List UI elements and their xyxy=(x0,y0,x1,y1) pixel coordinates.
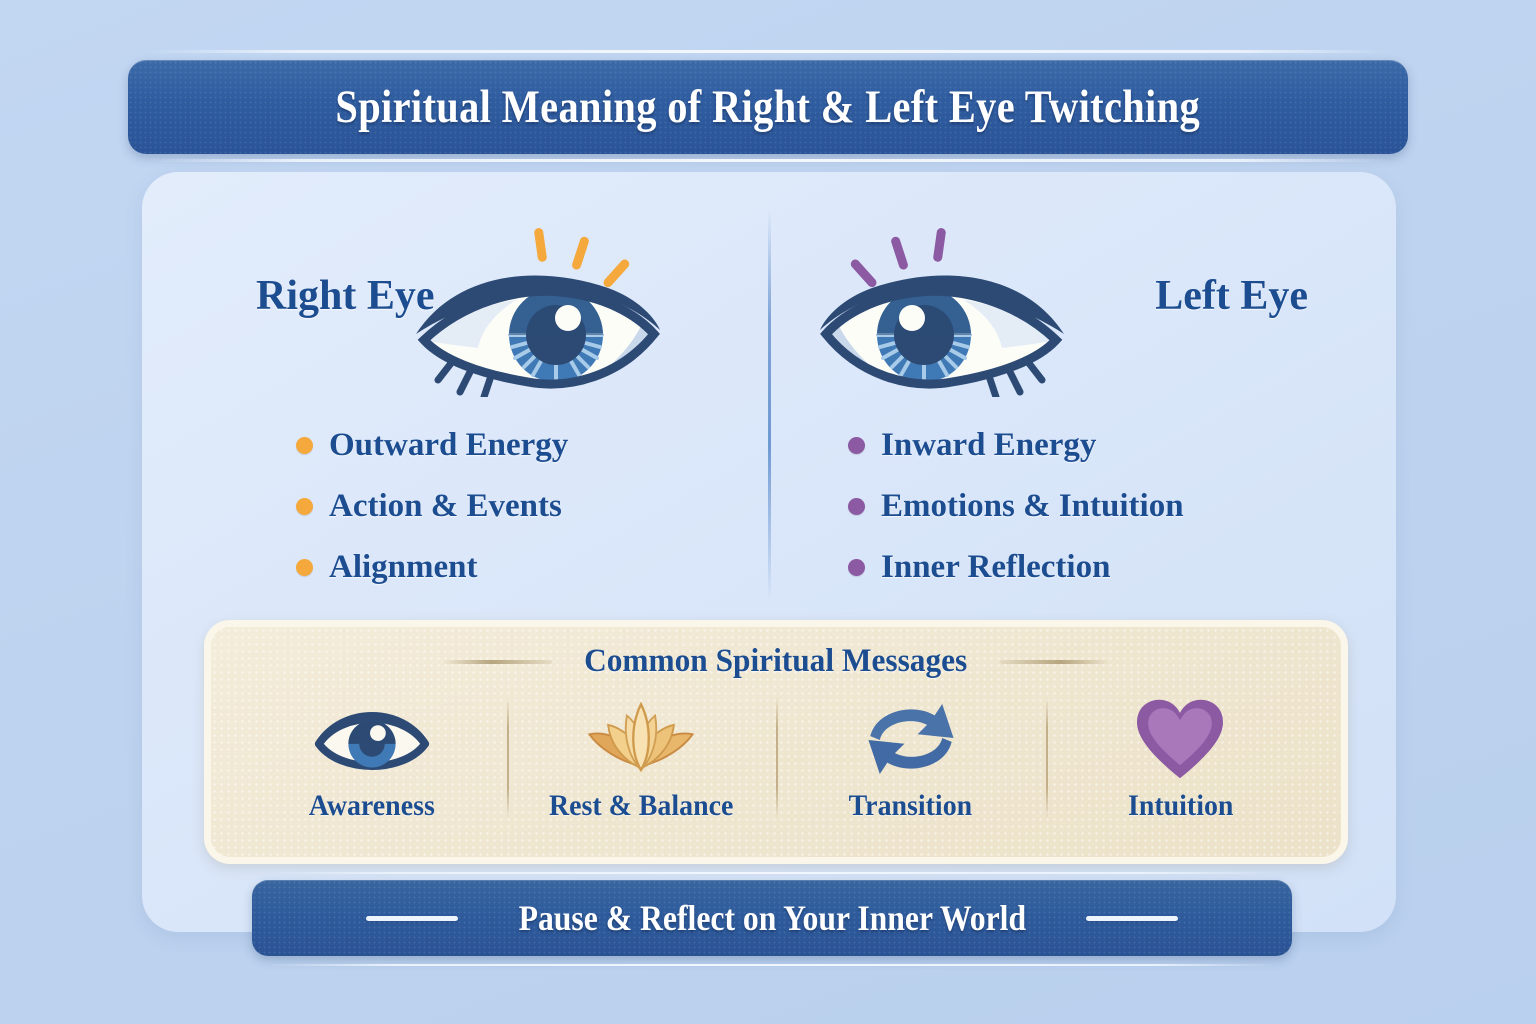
message-item-intuition: Intuition xyxy=(1046,693,1316,823)
list-item: Outward Energy xyxy=(168,427,768,464)
bullet-label: Outward Energy xyxy=(329,427,568,464)
title-banner-wrap: Spiritual Meaning of Right & Left Eye Tw… xyxy=(128,44,1408,164)
bullet-label: Emotions & Intuition xyxy=(881,488,1184,525)
list-item: Alignment xyxy=(168,549,768,586)
cycle-arrows-icon xyxy=(859,693,963,785)
list-item: Emotions & Intuition xyxy=(770,488,1370,525)
message-item-awareness: Awareness xyxy=(237,693,507,823)
infographic-canvas: Spiritual Meaning of Right & Left Eye Tw… xyxy=(0,0,1536,1024)
message-label: Awareness xyxy=(309,789,435,823)
list-item: Inward Energy xyxy=(770,427,1370,464)
bullet-dot-icon xyxy=(848,498,865,515)
footer-banner-wrap: Pause & Reflect on Your Inner World xyxy=(252,866,1292,970)
bullet-dot-icon xyxy=(848,559,865,576)
bullet-label: Inward Energy xyxy=(881,427,1096,464)
bullet-dot-icon xyxy=(296,437,313,454)
heart-icon xyxy=(1133,693,1227,785)
messages-title-row: Common Spiritual Messages xyxy=(211,643,1341,680)
right-eye-illustration-icon xyxy=(408,222,668,397)
bullet-label: Alignment xyxy=(329,549,478,586)
footer-text: Pause & Reflect on Your Inner World xyxy=(518,897,1025,939)
footer-dash-left-icon xyxy=(366,916,458,921)
message-label: Rest & Balance xyxy=(549,789,733,823)
eye-outline-icon xyxy=(313,693,431,785)
left-eye-illustration-icon xyxy=(812,222,1072,397)
bullet-dot-icon xyxy=(848,437,865,454)
messages-title: Common Spiritual Messages xyxy=(584,643,967,680)
main-card: Right Eye xyxy=(142,172,1396,932)
section-right-eye: Right Eye xyxy=(168,212,768,632)
message-item-transition: Transition xyxy=(776,693,1046,823)
lotus-icon xyxy=(580,693,702,785)
message-label: Intuition xyxy=(1128,789,1233,823)
title-banner: Spiritual Meaning of Right & Left Eye Tw… xyxy=(128,60,1408,154)
left-eye-label: Left Eye xyxy=(1155,272,1308,320)
message-label: Transition xyxy=(849,789,973,823)
list-item: Inner Reflection xyxy=(770,549,1370,586)
bullet-dot-icon xyxy=(296,559,313,576)
right-eye-bullets: Outward Energy Action & Events Alignment xyxy=(168,427,768,610)
title-dash-right-icon xyxy=(1000,660,1110,664)
right-eye-header: Right Eye xyxy=(168,212,768,402)
message-item-rest-balance: Rest & Balance xyxy=(507,693,777,823)
section-left-eye: Left Eye xyxy=(770,212,1370,632)
title-accent-line-bottom xyxy=(148,159,1388,162)
bullet-label: Inner Reflection xyxy=(881,549,1110,586)
messages-items: Awareness Rest & B xyxy=(237,693,1315,843)
left-eye-bullets: Inward Energy Emotions & Intuition Inner… xyxy=(770,427,1370,610)
page-title: Spiritual Meaning of Right & Left Eye Tw… xyxy=(336,80,1201,134)
bullet-dot-icon xyxy=(296,498,313,515)
left-eye-header: Left Eye xyxy=(770,212,1370,402)
title-dash-left-icon xyxy=(442,660,552,664)
footer-accent-line-bottom xyxy=(268,964,1276,966)
bullet-label: Action & Events xyxy=(329,488,562,525)
footer-accent-line-top xyxy=(268,872,1276,874)
common-messages-panel: Common Spiritual Messages xyxy=(204,620,1348,864)
list-item: Action & Events xyxy=(168,488,768,525)
title-accent-line-top xyxy=(148,50,1388,53)
footer-banner: Pause & Reflect on Your Inner World xyxy=(252,880,1292,956)
footer-dash-right-icon xyxy=(1086,916,1178,921)
